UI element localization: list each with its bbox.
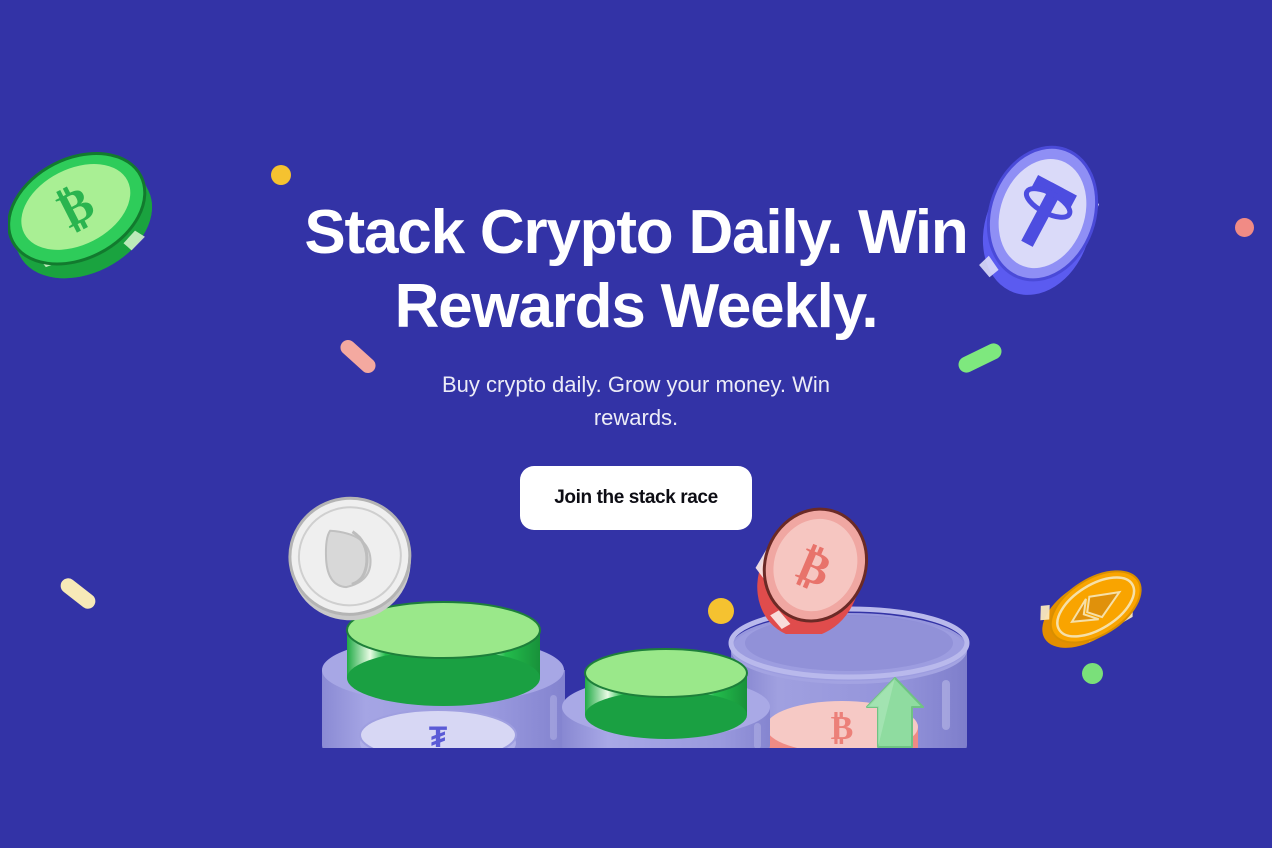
crypto-jars-illustration: ₿ — [322, 495, 970, 748]
green-dot-right-icon — [1082, 663, 1103, 684]
svg-text:₮: ₮ — [429, 721, 447, 748]
hero-subheadline: Buy crypto daily. Grow your money. Win r… — [421, 368, 851, 434]
jar-middle — [562, 649, 770, 748]
hero-section: ₿ — [0, 0, 1272, 848]
ethereum-coin-gold-icon — [1038, 552, 1150, 669]
hero-content: Stack Crypto Daily. Win Rewards Weekly. … — [0, 0, 1272, 530]
svg-text:₿: ₿ — [831, 710, 854, 747]
jar-left: ₮ — [322, 602, 565, 748]
cta-wrapper: Join the stack race — [0, 466, 1272, 530]
jar-middle-lid — [585, 649, 747, 739]
cream-pill-icon — [58, 575, 99, 611]
jar-left-lid — [347, 602, 540, 706]
join-the-stack-race-button[interactable]: Join the stack race — [520, 466, 751, 530]
hero-headline: Stack Crypto Daily. Win Rewards Weekly. — [286, 196, 986, 344]
